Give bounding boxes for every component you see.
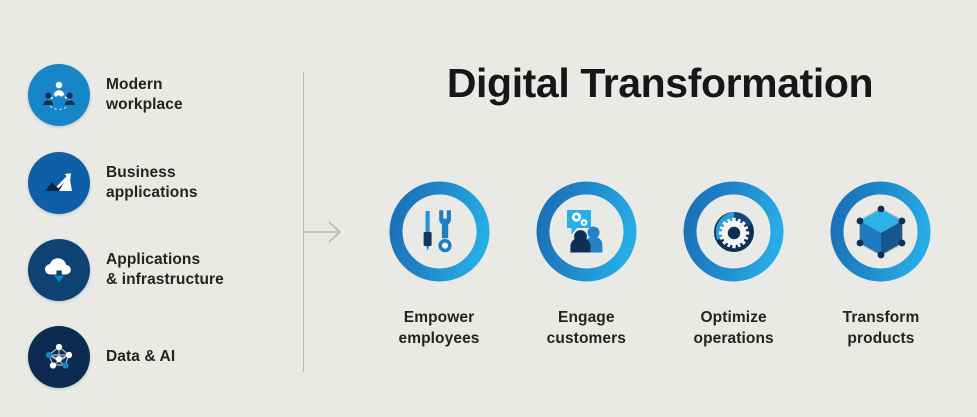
outcome-optimize-operations[interactable]: Optimize operations: [669, 181, 799, 349]
pillars-sidebar: Modern workplace Business applications: [0, 0, 300, 417]
ring: [830, 181, 931, 282]
right-arrow-icon: [303, 216, 345, 248]
outcome-label: Empower employees: [398, 308, 479, 349]
outcome-empower-employees[interactable]: Empower employees: [374, 181, 504, 349]
outcome-label: Engage customers: [547, 308, 626, 349]
gear-dial-icon: [683, 181, 784, 282]
people-chat-gears-icon: [536, 181, 637, 282]
sidebar-item-modern-workplace[interactable]: Modern workplace: [28, 64, 183, 126]
page-title: Digital Transformation: [380, 60, 940, 107]
ring: [536, 181, 637, 282]
outcome-transform-products[interactable]: Transform products: [816, 181, 946, 349]
business-applications-badge: [28, 152, 90, 214]
sidebar-item-label: Modern workplace: [106, 75, 183, 116]
tools-screwdriver-wrench-icon: [389, 181, 490, 282]
sidebar-item-data-ai[interactable]: Data & AI: [28, 326, 175, 388]
outcome-engage-customers[interactable]: Engage customers: [521, 181, 651, 349]
growth-chart-arrow-icon: [39, 163, 79, 203]
sidebar-item-applications-infrastructure[interactable]: Applications & infrastructure: [28, 239, 224, 301]
outcome-label: Optimize operations: [694, 308, 774, 349]
ring: [389, 181, 490, 282]
outcome-label: Transform products: [843, 308, 920, 349]
neural-network-icon: [39, 337, 79, 377]
data-ai-badge: [28, 326, 90, 388]
slide-canvas: Modern workplace Business applications: [0, 0, 977, 417]
3d-cube-icon: [830, 181, 931, 282]
ring: [683, 181, 784, 282]
applications-infrastructure-badge: [28, 239, 90, 301]
modern-workplace-badge: [28, 64, 90, 126]
outcomes-row: Empower employees: [374, 181, 946, 349]
cloud-download-icon: [38, 249, 80, 291]
sidebar-item-label: Data & AI: [106, 347, 175, 367]
sidebar-item-label: Business applications: [106, 163, 198, 204]
sidebar-item-business-applications[interactable]: Business applications: [28, 152, 198, 214]
sidebar-item-label: Applications & infrastructure: [106, 250, 224, 291]
people-network-icon: [39, 75, 79, 115]
